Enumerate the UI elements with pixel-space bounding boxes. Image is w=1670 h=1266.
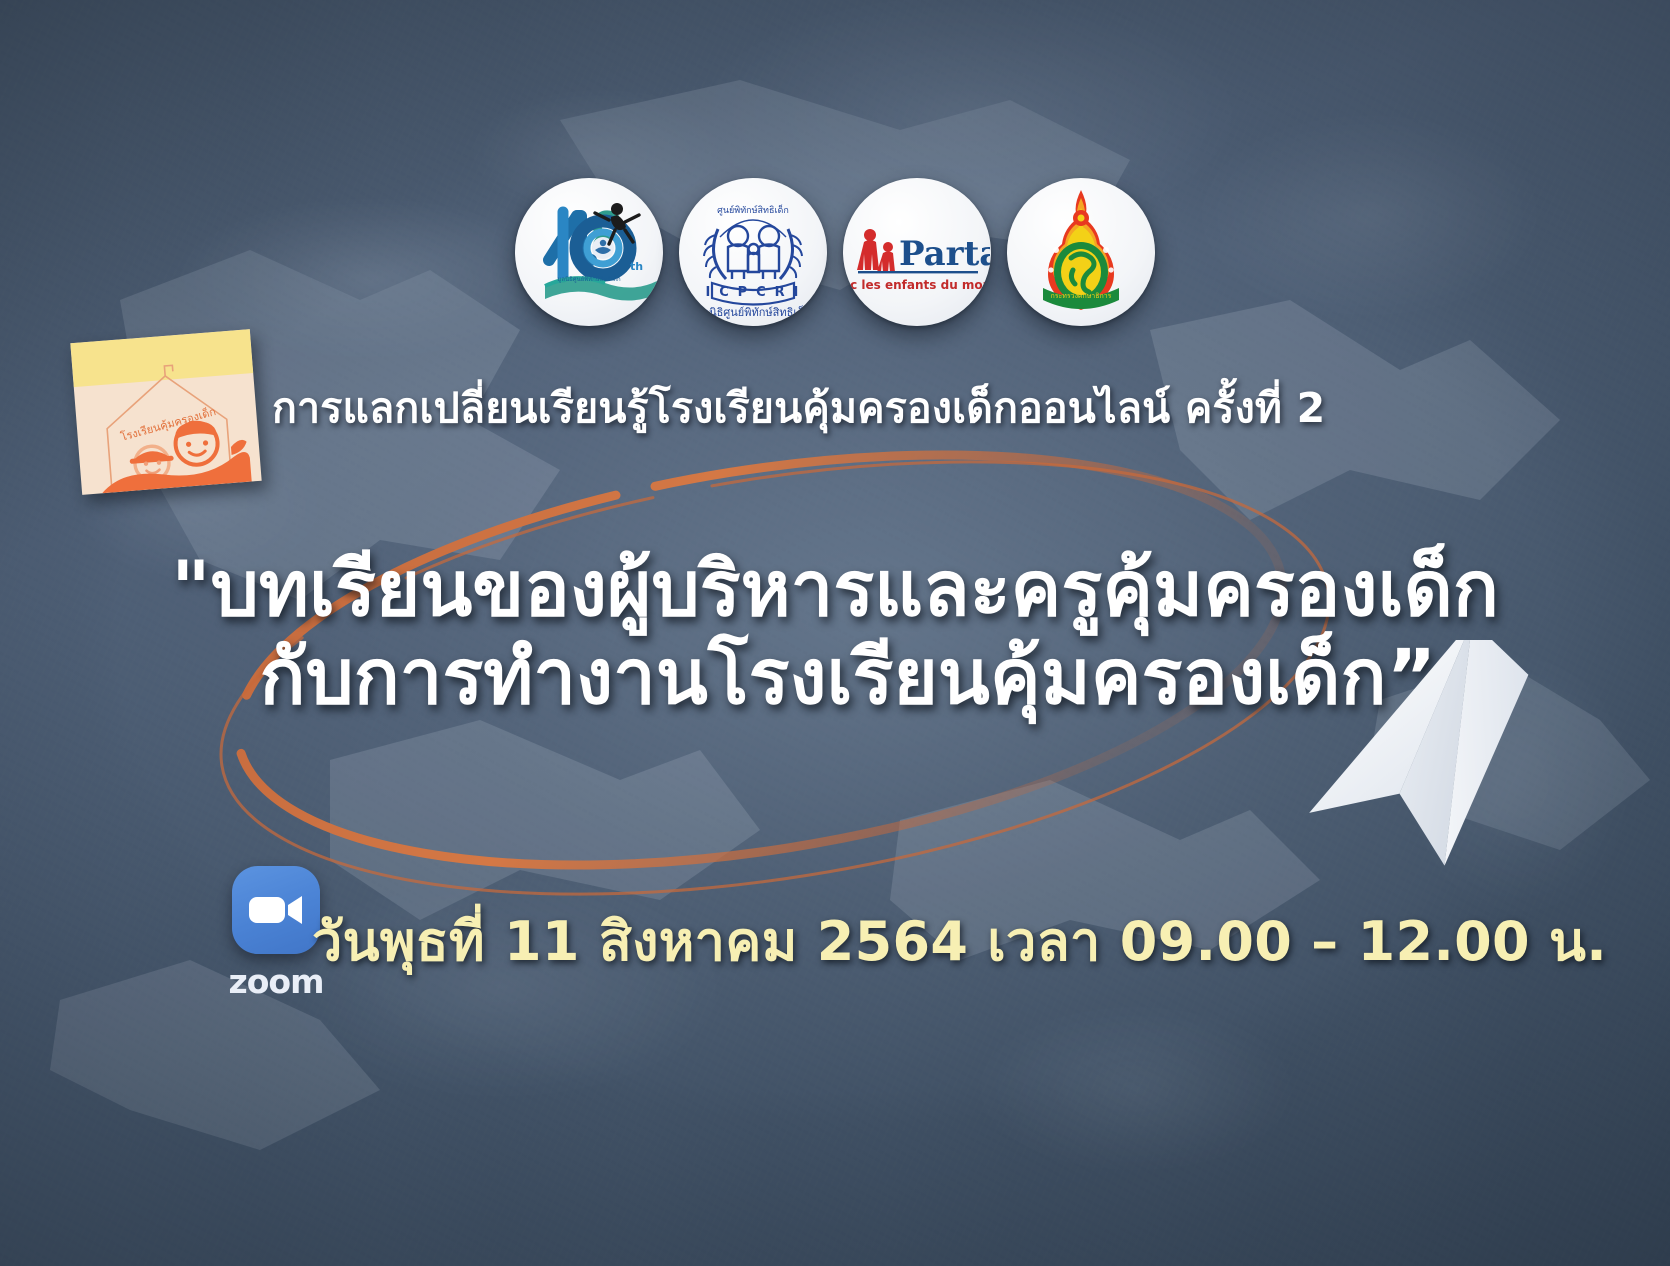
poster-canvas: th มูลนิธิศูนย์พิทักษ์สิทธิเด็ก ศูนย์พิท… xyxy=(0,0,1670,1266)
sticky-note-child-protection-school: โรงเรียนคุ้มครองเด็ก xyxy=(70,329,261,495)
logo-icpcr-foundation: ศูนย์พิทักษ์สิทธิเด็ก xyxy=(679,178,827,326)
partner-logos: th มูลนิธิศูนย์พิทักษ์สิทธิเด็ก ศูนย์พิท… xyxy=(0,178,1670,326)
svg-text:th: th xyxy=(630,260,643,273)
svg-text:Partage: Partage xyxy=(899,234,990,274)
paper-plane-icon xyxy=(1262,640,1552,880)
title-line-1: "บทเรียนของผู้บริหารและครูคุ้มครองเด็ก xyxy=(0,545,1670,633)
svg-text:I C P C R I: I C P C R I xyxy=(705,285,800,300)
svg-text:มูลนิธิศูนย์พิทักษ์สิทธิเด็ก: มูลนิธิศูนย์พิทักษ์สิทธิเด็ก xyxy=(695,305,811,319)
svg-text:มูลนิธิศูนย์พิทักษ์สิทธิเด็ก: มูลนิธิศูนย์พิทักษ์สิทธิเด็ก xyxy=(557,274,621,283)
video-camera-icon xyxy=(232,866,320,954)
event-datetime: วันพุธที่ 11 สิงหาคม 2564 เวลา 09.00 – 1… xyxy=(312,898,1607,984)
logo-partage: Partage avec les enfants du monde xyxy=(843,178,991,326)
logo-ministry-of-education: กระทรวงศึกษาธิการ xyxy=(1007,178,1155,326)
logo-40th-anniversary: th มูลนิธิศูนย์พิทักษ์สิทธิเด็ก xyxy=(515,178,663,326)
svg-text:avec les enfants du monde: avec les enfants du monde xyxy=(844,278,990,292)
svg-text:ศูนย์พิทักษ์สิทธิเด็ก: ศูนย์พิทักษ์สิทธิเด็ก xyxy=(717,203,789,216)
event-series-heading: การแลกเปลี่ยนเรียนรู้โรงเรียนคุ้มครองเด็… xyxy=(272,376,1452,441)
svg-text:กระทรวงศึกษาธิการ: กระทรวงศึกษาธิการ xyxy=(1051,291,1112,300)
